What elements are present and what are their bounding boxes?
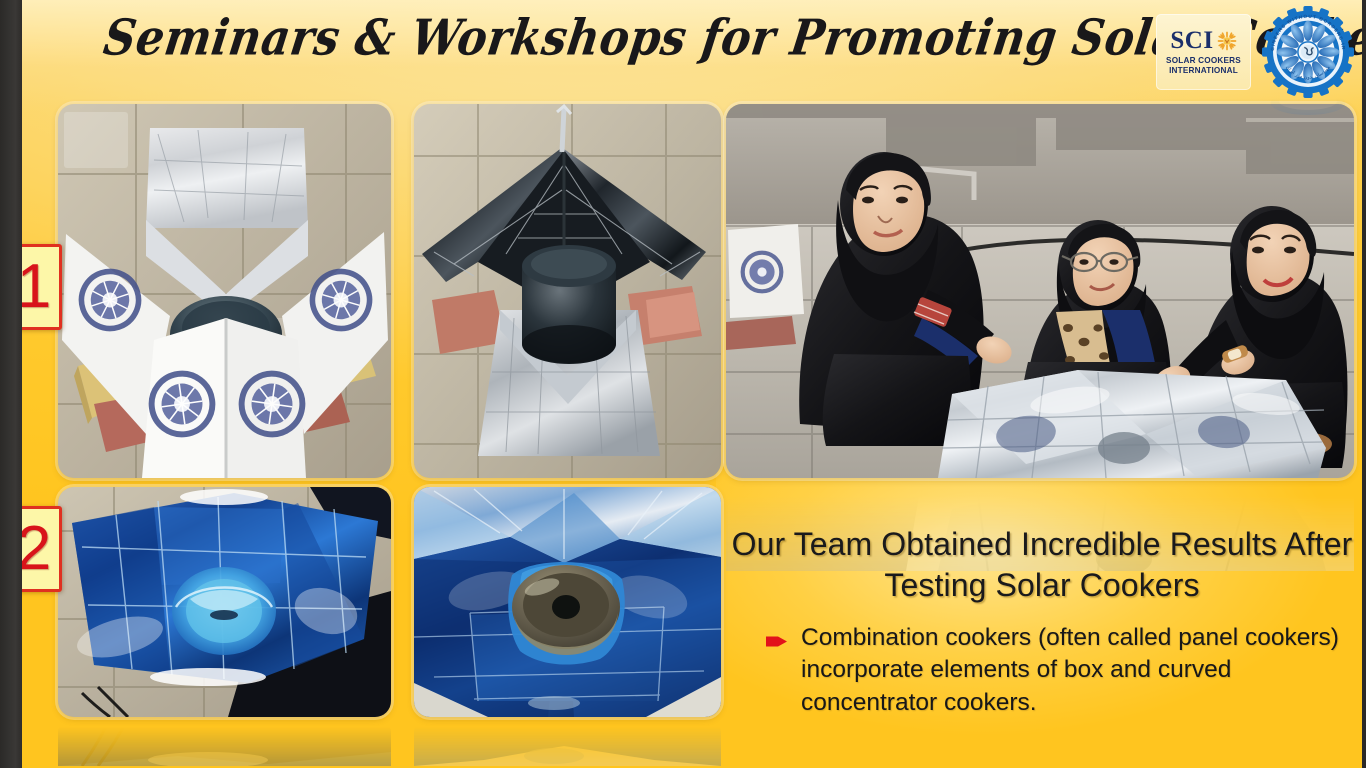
arrow-bullet-icon bbox=[766, 635, 787, 648]
photo-team-rooftop bbox=[726, 104, 1354, 478]
sun-icon bbox=[1217, 31, 1237, 51]
slide-canvas: Seminars & Workshops for Promoting Solar… bbox=[0, 0, 1366, 768]
photo-reflection-1 bbox=[58, 718, 391, 766]
photo-blue-bag-cooker bbox=[58, 487, 391, 717]
ewb-logo: ENGINEERS WITHOUT BORDERS-IRAN مهندسان ب… bbox=[1262, 6, 1354, 98]
headline-text: Our Team Obtained Incredible Results Aft… bbox=[730, 524, 1354, 606]
sci-subtitle-line1: SOLAR COOKERS bbox=[1166, 56, 1241, 66]
page-title: Seminars & Workshops for Promoting Solar… bbox=[100, 11, 1128, 68]
photo-reflection-2 bbox=[414, 718, 721, 766]
right-edge-rail bbox=[1362, 0, 1366, 768]
bullet-text: Combination cookers (often called panel … bbox=[801, 622, 1354, 719]
photo-panel-cooker-paper bbox=[58, 104, 391, 478]
sci-acronym: SCI bbox=[1170, 28, 1213, 53]
sci-subtitle-line2: INTERNATIONAL bbox=[1166, 66, 1241, 76]
photo-panel-cooker-foil bbox=[414, 104, 721, 478]
left-edge-rail bbox=[0, 0, 22, 768]
ewb-logo-reflection bbox=[1262, 98, 1354, 132]
sci-logo: SCI SOLAR COOKERS INTERNATIONAL bbox=[1156, 14, 1251, 90]
bullet-list-item: Combination cookers (often called panel … bbox=[766, 622, 1354, 719]
photo-pot-closeup bbox=[414, 487, 721, 717]
